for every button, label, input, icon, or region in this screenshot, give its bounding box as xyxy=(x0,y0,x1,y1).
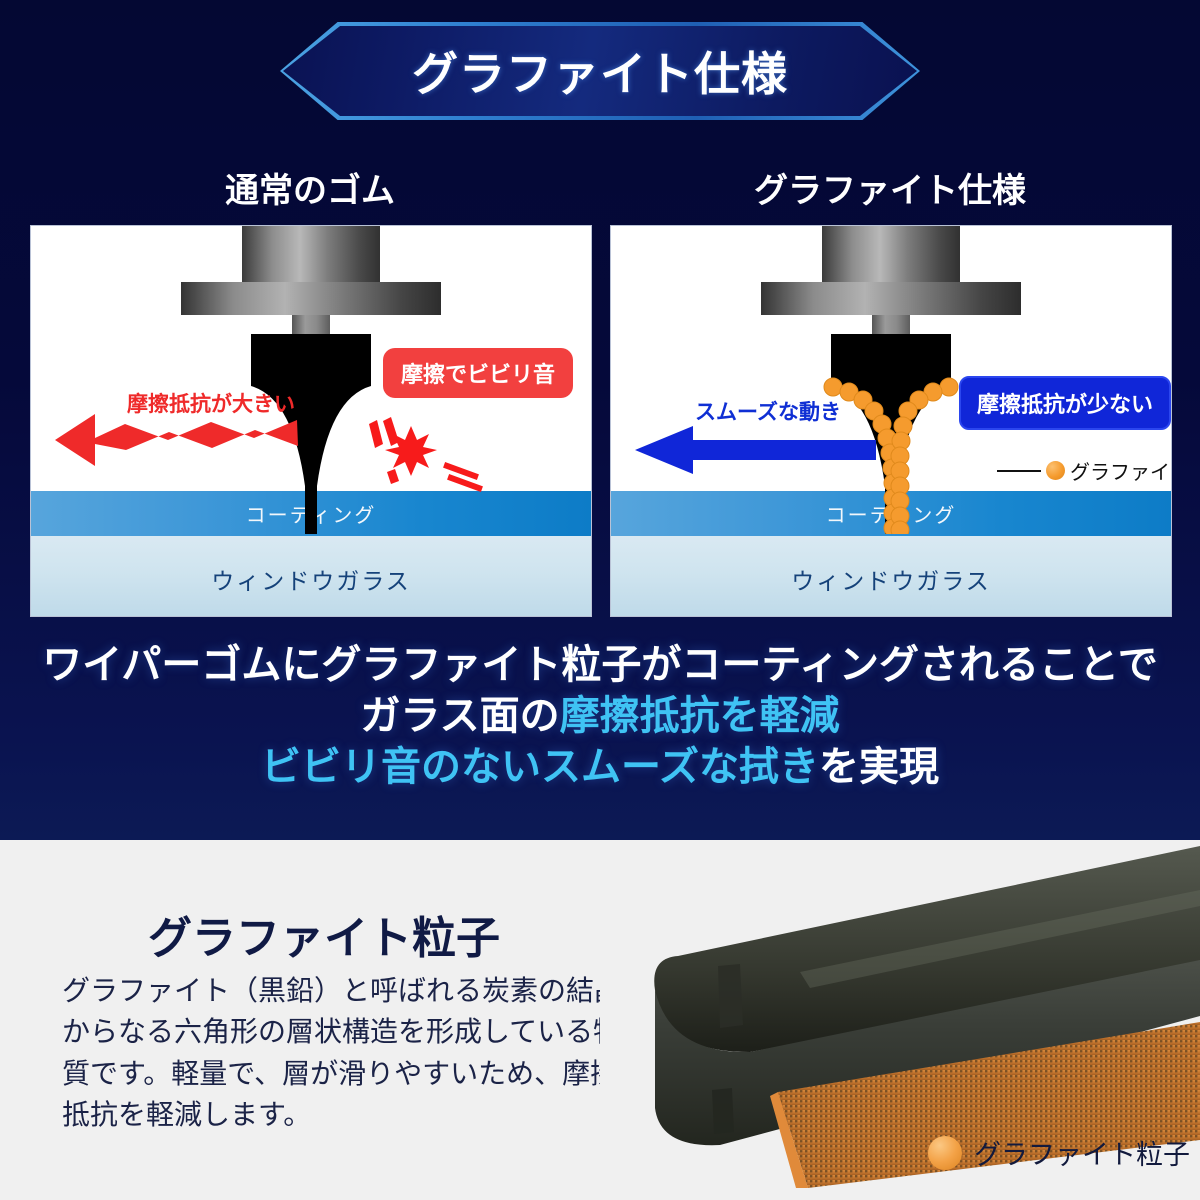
callout-leader-line xyxy=(997,470,1041,472)
graphite-particle-title: グラファイト粒子 xyxy=(148,902,500,966)
message-line-1: ワイパーゴムにグラファイト粒子がコーティングされることで xyxy=(0,640,1200,691)
title-banner: グラファイト仕様 xyxy=(280,22,920,120)
graphite-legend-label: グラファイト粒子 xyxy=(974,1133,1190,1172)
holder-flange-icon xyxy=(181,282,441,315)
graphite-particle-callout: グラファイト粒子 xyxy=(997,456,1172,485)
message-line-2-highlight: 摩擦抵抗を軽減 xyxy=(560,694,840,738)
message-line-2: ガラス面の摩擦抵抗を軽減 xyxy=(0,691,1200,742)
panel-heading-normal-rubber: 通常のゴム xyxy=(30,163,590,212)
banner-inner-shape: グラファイト仕様 xyxy=(283,26,917,116)
graphite-particle-description: グラファイト（黒鉛）と呼ばれる炭素の結晶からなる六角形の層状構造を形成している物… xyxy=(62,970,632,1136)
panel-heading-graphite: グラファイト仕様 xyxy=(610,163,1170,212)
graphite-particle-dot-icon xyxy=(1046,461,1065,480)
friction-spark-icon xyxy=(361,406,491,506)
holder-flange-icon xyxy=(761,282,1021,315)
diagram-panel-normal-rubber: コーティング ウィンドウガラス 摩擦抵抗が大きい 摩擦でビビリ音 xyxy=(30,225,592,617)
wiper-metal-holder-right xyxy=(761,226,1021,346)
wiper-metal-holder-left xyxy=(181,226,441,346)
wiper-blade-photo: グラファイト粒子 xyxy=(600,840,1200,1200)
holder-cap-icon xyxy=(242,226,380,282)
banner-title-text: グラファイト仕様 xyxy=(412,38,788,104)
photo-graphite-legend: グラファイト粒子 xyxy=(928,1133,1190,1172)
glass-layer-right: ウィンドウガラス xyxy=(611,536,1171,616)
message-line-2-plain: ガラス面の xyxy=(360,694,559,738)
message-line-3-plain: を実現 xyxy=(819,745,939,789)
chatter-noise-pill: 摩擦でビビリ音 xyxy=(383,348,573,398)
graphite-particle-callout-label: グラファイト粒子 xyxy=(1070,456,1172,485)
bottom-light-section: グラファイト粒子 グラファイト（黒鉛）と呼ばれる炭素の結晶からなる六角形の層状構… xyxy=(0,840,1200,1200)
smooth-motion-label: スムーズな動き xyxy=(695,396,841,426)
graphite-spec-infographic: グラファイト仕様 通常のゴム グラファイト仕様 コーティング ウィンドウガラス xyxy=(0,0,1200,1200)
diagram-panel-graphite: コーティング ウィンドウガラス xyxy=(610,225,1172,617)
message-line-3: ビビリ音のないスムーズな拭きを実現 xyxy=(0,742,1200,793)
glass-label-right: ウィンドウガラス xyxy=(791,562,991,596)
glass-layer-left: ウィンドウガラス xyxy=(31,536,591,616)
smooth-motion-arrow-icon xyxy=(631,426,876,474)
glass-label-left: ウィンドウガラス xyxy=(211,562,411,596)
friction-zigzag-arrow-icon xyxy=(49,408,299,468)
holder-cap-icon xyxy=(822,226,960,282)
low-friction-pill: 摩擦抵抗が少ない xyxy=(959,376,1171,430)
graphite-legend-dot-icon xyxy=(928,1136,962,1170)
top-navy-section: グラファイト仕様 通常のゴム グラファイト仕様 コーティング ウィンドウガラス xyxy=(0,0,1200,840)
summary-message: ワイパーゴムにグラファイト粒子がコーティングされることで ガラス面の摩擦抵抗を軽… xyxy=(0,640,1200,794)
message-line-3-highlight: ビビリ音のないスムーズな拭き xyxy=(261,745,819,789)
